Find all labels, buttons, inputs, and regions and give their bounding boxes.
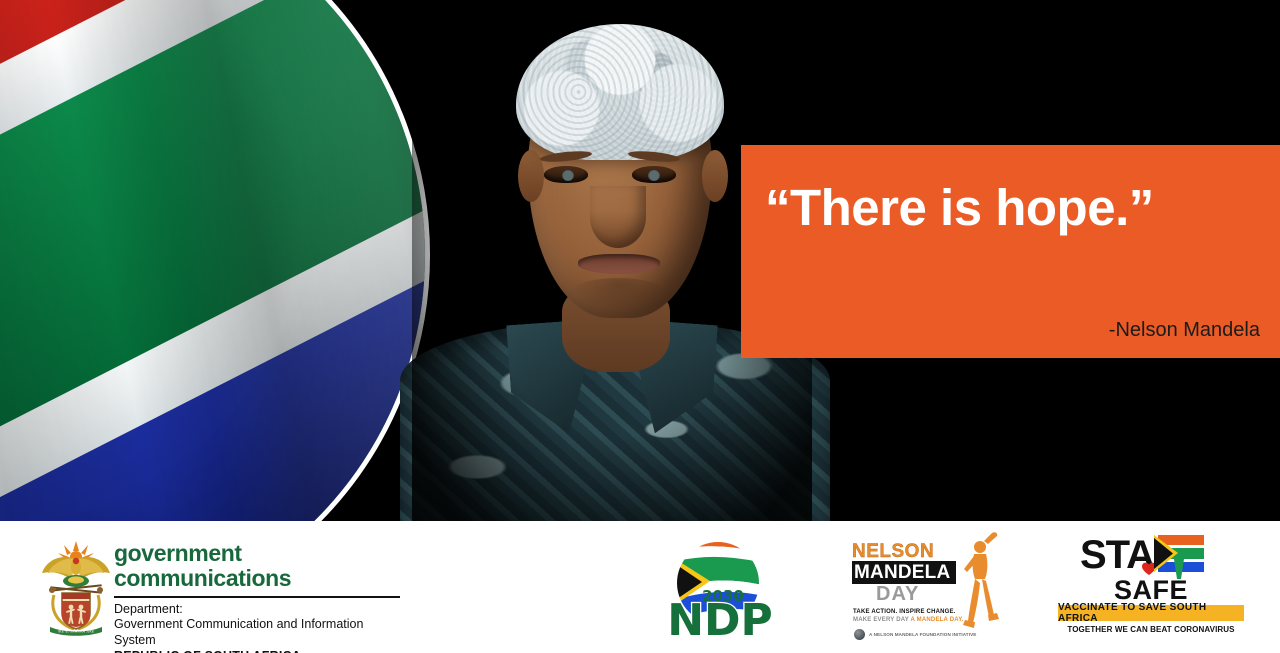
svg-text:!KE E: /XARRA //KE: !KE E: /XARRA //KE (58, 630, 95, 634)
gcis-country: REPUBLIC OF SOUTH AFRICA (114, 649, 301, 653)
mandela-quote-banner: “There is hope.” -Nelson Mandela (0, 0, 1280, 653)
svg-text:NDP: NDP (667, 595, 773, 639)
flag-vignette (0, 0, 425, 521)
mandela-day-foundation-line: A NELSON MANDELA FOUNDATION INITIATIVE (854, 629, 976, 640)
quote-band: “There is hope.” -Nelson Mandela (741, 145, 1280, 358)
gcis-wordmark: government communications Department: Go… (114, 541, 404, 653)
stay-safe-banner-text: VACCINATE TO SAVE SOUTH AFRICA (1058, 602, 1244, 624)
mandela-day-tagline-2: MAKE EVERY DAY A MANDELA DAY. (853, 617, 964, 623)
footer-logo-strip: !KE E: /XARRA //KE government communicat… (0, 521, 1280, 653)
stay-safe-logo: STA (1058, 535, 1244, 639)
mandela-day-tagline-2-plain: MAKE EVERY DAY (853, 617, 909, 623)
nelson-mandela-foundation-icon (854, 629, 865, 640)
stay-safe-footer-text: TOGETHER WE CAN BEAT CORONAVIRUS (1058, 625, 1244, 634)
mandela-day-mandela-block: MANDELA (852, 561, 956, 584)
mandela-day-foundation-text: A NELSON MANDELA FOUNDATION INITIATIVE (869, 632, 976, 637)
ndp-2030-logo: 2030 NDP (662, 535, 784, 639)
gcis-line-communications: communications (114, 566, 404, 591)
mandela-day-day: DAY (876, 583, 919, 606)
south-african-flag-circle (0, 0, 430, 521)
hero-section: “There is hope.” -Nelson Mandela (0, 0, 1280, 521)
portrait-ear-right (702, 150, 728, 202)
mandela-day-mandela: MANDELA (852, 562, 950, 584)
south-africa-coat-of-arms-icon: !KE E: /XARRA //KE (36, 537, 116, 637)
portrait-nose (590, 186, 646, 248)
mandela-day-tagline-2-accent: A MANDELA DAY. (910, 617, 963, 623)
gcis-divider (114, 596, 400, 598)
quote-text: “There is hope.” (765, 181, 1265, 235)
portrait-hair (516, 24, 724, 160)
stay-safe-top-row: STA (1058, 535, 1244, 579)
portrait-hair-texture (516, 24, 724, 160)
gcis-line-government: government (114, 541, 404, 566)
quote-attribution: -Nelson Mandela (1109, 319, 1260, 342)
stay-safe-vaccinate-banner: VACCINATE TO SAVE SOUTH AFRICA (1058, 605, 1244, 621)
portrait-iris-right (648, 170, 660, 181)
mandela-day-tagline-1: TAKE ACTION. INSPIRE CHANGE. (853, 609, 956, 615)
portrait-mouth (578, 254, 660, 274)
south-african-flag-y-icon (1154, 535, 1204, 579)
mandela-day-dancing-figure-icon (958, 529, 1004, 633)
portrait-iris-left (562, 170, 574, 181)
portrait-chin (570, 278, 666, 308)
mandela-day-nelson: NELSON (852, 541, 934, 563)
gcis-department-label: Department: (114, 602, 404, 618)
gcis-department-name: Government Communication and Information… (114, 617, 404, 649)
mandela-day-logo: NELSON MANDELA DAY TAKE ACTION. INSPIRE … (852, 533, 1002, 645)
